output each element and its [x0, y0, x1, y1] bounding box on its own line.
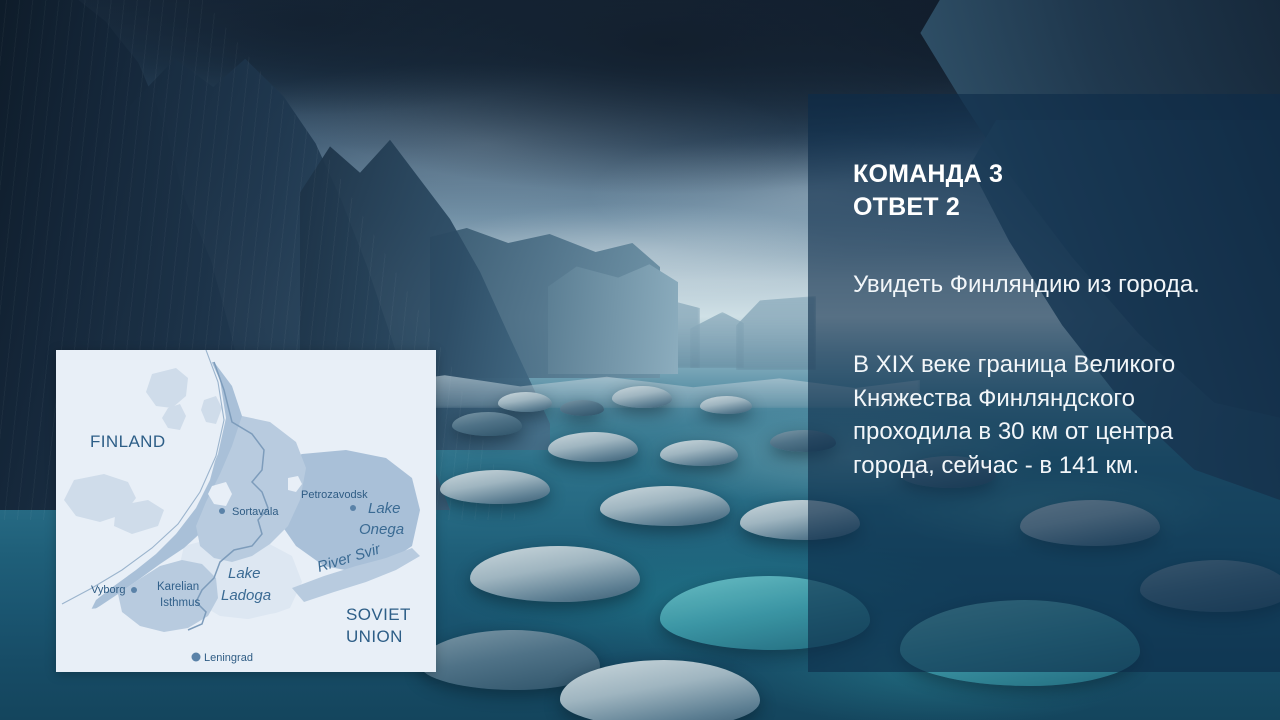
- map-label-lake-onega-2: Onega: [359, 521, 404, 538]
- distant-cliff: [736, 296, 816, 370]
- map-label-karelian: Karelian: [157, 581, 199, 593]
- map-label-leningrad: Leningrad: [204, 652, 253, 664]
- city-dot-sortavala: [219, 508, 225, 514]
- boulder: [548, 432, 638, 462]
- boulder: [560, 400, 604, 416]
- map-label-isthmus: Isthmus: [160, 597, 201, 609]
- boulder: [700, 396, 752, 414]
- map-label-lake-ladoga-2: Ladoga: [221, 587, 271, 604]
- midground-cliff: [548, 262, 678, 374]
- map-label-vyborg: Vyborg: [91, 584, 125, 596]
- map-label-lake-ladoga-1: Lake: [228, 565, 261, 582]
- karelia-map: FINLAND SOVIET UNION Lake Onega Lake Lad…: [56, 350, 436, 672]
- map-label-petrozavodsk: Petrozavodsk: [301, 489, 368, 501]
- map-label-lake-onega-1: Lake: [368, 500, 401, 517]
- map-label-union: UNION: [346, 627, 403, 646]
- slide-canvas: FINLAND SOVIET UNION Lake Onega Lake Lad…: [0, 0, 1280, 720]
- panel-body-text: В XIX веке граница Великого Княжества Фи…: [853, 348, 1233, 482]
- boulder: [440, 470, 550, 504]
- boulder: [612, 386, 672, 408]
- map-label-soviet: SOVIET: [346, 605, 411, 624]
- map-inset: FINLAND SOVIET UNION Lake Onega Lake Lad…: [56, 350, 436, 672]
- map-label-sortavala: Sortavala: [232, 506, 279, 518]
- map-label-finland: FINLAND: [90, 432, 166, 451]
- city-dot-leningrad: [192, 653, 201, 662]
- city-dot-petrozavodsk: [350, 505, 356, 511]
- city-dot-vyborg: [131, 587, 137, 593]
- heading-line-team: КОМАНДА 3: [853, 158, 1236, 191]
- heading-line-answer: ОТВЕТ 2: [853, 191, 1236, 224]
- boulder: [470, 546, 640, 602]
- boulder: [600, 486, 730, 526]
- text-panel: КОМАНДА 3 ОТВЕТ 2 Увидеть Финляндию из г…: [808, 94, 1280, 672]
- boulder: [452, 412, 522, 436]
- text-panel-inner: КОМАНДА 3 ОТВЕТ 2 Увидеть Финляндию из г…: [808, 94, 1280, 482]
- boulder: [660, 440, 738, 466]
- panel-lead-text: Увидеть Финляндию из города.: [853, 268, 1223, 302]
- panel-heading: КОМАНДА 3 ОТВЕТ 2: [853, 158, 1236, 224]
- boulder: [498, 392, 552, 412]
